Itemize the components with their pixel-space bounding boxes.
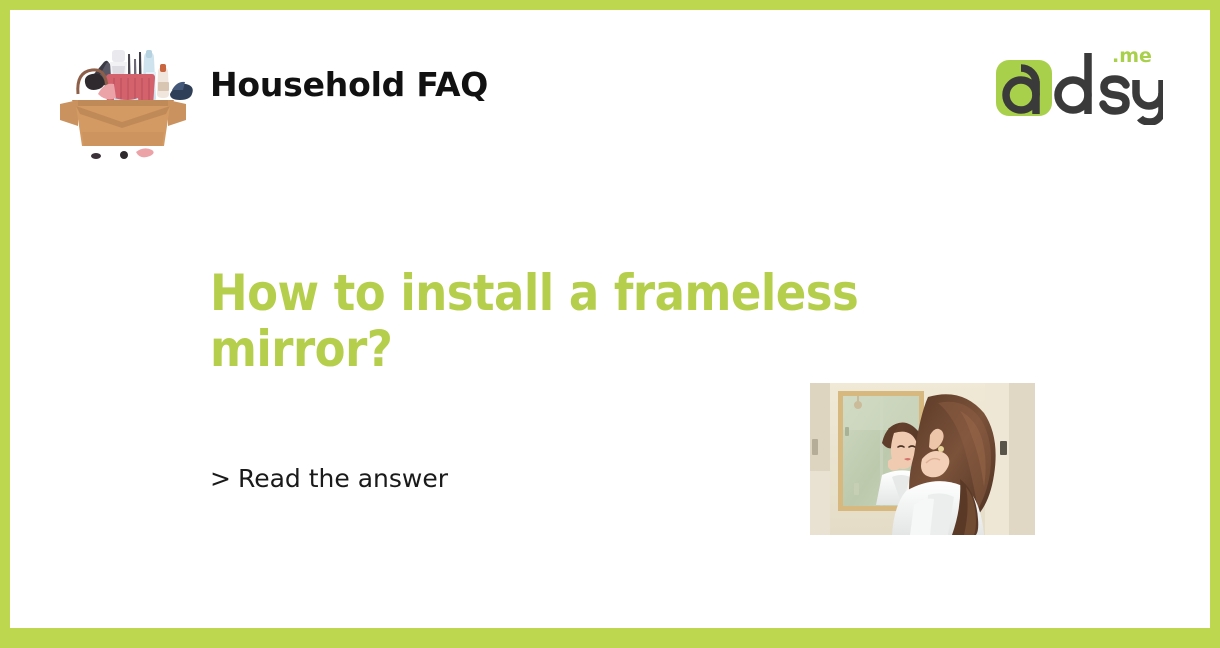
- svg-text:.me: .me: [1112, 45, 1152, 67]
- frame-border-right: [1210, 0, 1220, 648]
- frame-border-left: [0, 0, 10, 648]
- read-answer-label: Read the answer: [238, 464, 448, 493]
- adsy-logo[interactable]: .me: [988, 45, 1163, 125]
- frame-border-bottom: [0, 628, 1220, 648]
- chevron-right-icon: >: [210, 464, 231, 493]
- headline: How to install a frameless mirror?: [210, 265, 970, 377]
- frame-border-top: [0, 0, 1220, 10]
- faq-promo-card: Household FAQ .me How to install a fra: [0, 0, 1220, 648]
- household-box-icon: [48, 32, 198, 162]
- page-title: Household FAQ: [210, 65, 488, 104]
- article-thumbnail[interactable]: [810, 383, 1035, 535]
- read-answer-link[interactable]: >Read the answer: [210, 464, 448, 493]
